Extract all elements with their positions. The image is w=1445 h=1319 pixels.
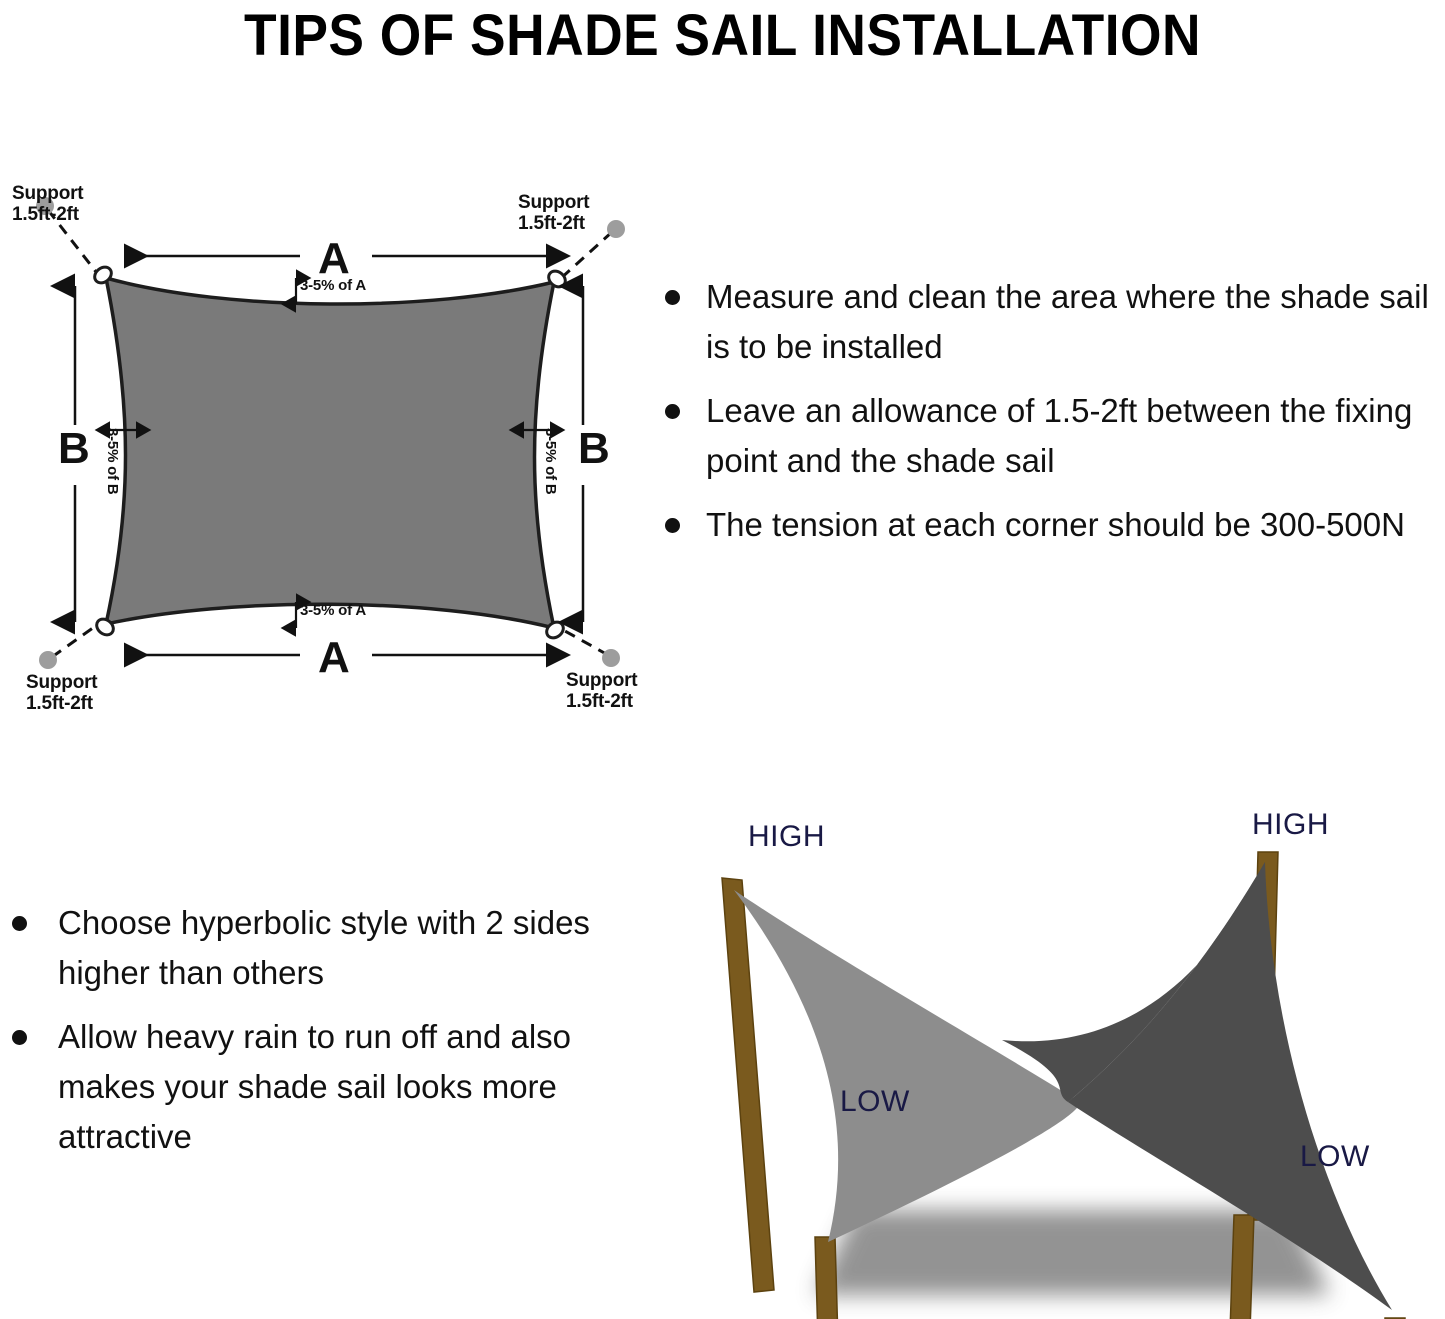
curve-note-bottom: 3-5% of A bbox=[300, 603, 366, 620]
dimension-letter-b-left: B bbox=[58, 424, 90, 473]
corner-label-high-left: HIGH bbox=[748, 820, 825, 854]
dimension-letter-a-bottom: A bbox=[318, 633, 350, 682]
corner-label-high-right: HIGH bbox=[1252, 808, 1329, 842]
list-item: Measure and clean the area where the sha… bbox=[648, 272, 1445, 372]
dimension-letter-a-top: A bbox=[318, 234, 350, 283]
list-item: Choose hyperbolic style with 2 sides hig… bbox=[0, 898, 625, 998]
sail-shape bbox=[106, 278, 554, 628]
list-item: Leave an allowance of 1.5-2ft between th… bbox=[648, 386, 1445, 486]
list-item: Allow heavy rain to run off and also mak… bbox=[0, 1012, 625, 1162]
curve-note-right: 3-5% of B bbox=[541, 428, 558, 495]
tips-list-bottom: Choose hyperbolic style with 2 sides hig… bbox=[0, 898, 625, 1176]
sail-panel-light bbox=[734, 890, 1080, 1242]
curve-note-left: 3-5% of B bbox=[103, 428, 120, 495]
infographic-page: TIPS OF SHADE SAIL INSTALLATION bbox=[0, 0, 1445, 1319]
support-label-top-right: Support1.5ft-2ft bbox=[518, 192, 589, 235]
hyperbolic-sail-diagram bbox=[650, 790, 1445, 1319]
support-label-bottom-right: Support1.5ft-2ft bbox=[566, 670, 637, 713]
tips-list-top: Measure and clean the area where the sha… bbox=[648, 272, 1445, 564]
support-label-bottom-left: Support1.5ft-2ft bbox=[26, 672, 97, 715]
corner-label-low-left: LOW bbox=[840, 1085, 910, 1119]
page-title: TIPS OF SHADE SAIL INSTALLATION bbox=[58, 2, 1387, 69]
dimension-letter-b-right: B bbox=[578, 424, 610, 473]
curve-note-top: 3-5% of A bbox=[300, 278, 366, 295]
support-label-top-left: Support1.5ft-2ft bbox=[12, 183, 83, 226]
corner-label-low-right: LOW bbox=[1300, 1140, 1370, 1174]
list-item: The tension at each corner should be 300… bbox=[648, 500, 1445, 550]
